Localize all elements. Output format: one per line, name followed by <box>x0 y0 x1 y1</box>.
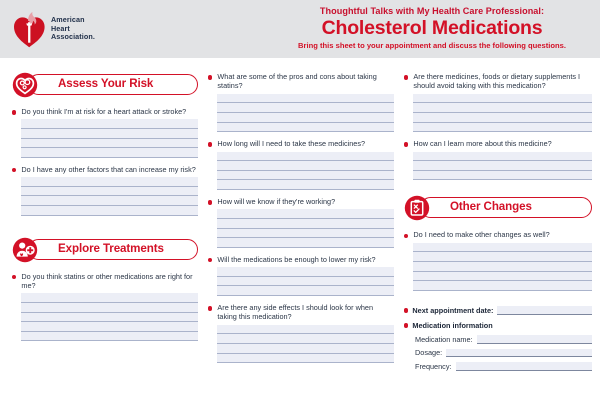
bullet-icon <box>12 168 16 172</box>
page-title: Cholesterol Medications <box>272 17 592 40</box>
answer-lines[interactable] <box>217 325 394 363</box>
answer-line[interactable] <box>217 209 394 219</box>
question-row: How long will I need to take these medic… <box>208 139 394 148</box>
answer-line[interactable] <box>21 177 198 187</box>
medication-name-field[interactable]: Medication name: <box>415 335 592 344</box>
answer-line[interactable] <box>21 332 198 342</box>
section-header-assess-risk: Assess Your Risk <box>12 72 198 98</box>
answer-line[interactable] <box>21 206 198 216</box>
answer-line[interactable] <box>413 281 592 291</box>
bullet-icon <box>404 234 408 238</box>
bullet-icon <box>208 306 212 310</box>
bullet-icon <box>12 275 16 279</box>
bullet-icon <box>208 142 212 146</box>
answer-lines[interactable] <box>217 152 394 190</box>
medication-name-input[interactable] <box>477 335 592 344</box>
answer-line[interactable] <box>21 196 198 206</box>
answer-line[interactable] <box>217 354 394 364</box>
question-text: Are there any side effects I should look… <box>217 303 394 322</box>
answer-line[interactable] <box>413 152 592 162</box>
person-medical-cross-icon <box>12 237 38 263</box>
answer-line[interactable] <box>413 272 592 282</box>
frequency-input[interactable] <box>456 362 592 371</box>
answer-lines[interactable] <box>413 243 592 291</box>
question-block: Will the medications be enough to lower … <box>208 255 394 296</box>
question-row: Do you think statins or other medication… <box>12 272 198 291</box>
question-text: How can I learn more about this medicine… <box>413 139 592 148</box>
bullet-icon <box>404 308 408 312</box>
question-block: Do you think statins or other medication… <box>12 272 198 342</box>
question-text: Do I need to make other changes as well? <box>413 230 592 239</box>
section-header-other-changes: Other Changes <box>404 195 592 221</box>
bullet-icon <box>208 200 212 204</box>
answer-lines[interactable] <box>217 267 394 296</box>
answer-line[interactable] <box>217 152 394 162</box>
section-label-explore-treatments: Explore Treatments <box>58 242 164 255</box>
answer-line[interactable] <box>413 103 592 113</box>
answer-line[interactable] <box>413 171 592 181</box>
question-row: Are there any side effects I should look… <box>208 303 394 322</box>
dosage-field[interactable]: Dosage: <box>415 348 592 357</box>
answer-line[interactable] <box>21 293 198 303</box>
question-text: Do you think statins or other medication… <box>21 272 198 291</box>
answer-line[interactable] <box>217 219 394 229</box>
answer-line[interactable] <box>217 286 394 296</box>
answer-lines[interactable] <box>413 94 592 132</box>
medication-information-label: Medication information <box>412 321 492 330</box>
question-text: What are some of the pros and cons about… <box>217 72 394 91</box>
question-block: What are some of the pros and cons about… <box>208 72 394 132</box>
question-row: How will we know if they're working? <box>208 197 394 206</box>
question-text: How will we know if they're working? <box>217 197 394 206</box>
question-row: Do I have any other factors that can inc… <box>12 165 198 174</box>
answer-line[interactable] <box>21 129 198 139</box>
question-block: How will we know if they're working? <box>208 197 394 248</box>
next-appointment-input[interactable] <box>497 306 592 315</box>
answer-line[interactable] <box>413 113 592 123</box>
question-block: Do I need to make other changes as well? <box>404 230 592 290</box>
section-header-explore-treatments: Explore Treatments <box>12 237 198 263</box>
section-label-other-changes: Other Changes <box>450 200 532 213</box>
question-row: Are there medicines, foods or dietary su… <box>404 72 592 91</box>
answer-line[interactable] <box>21 322 198 332</box>
answer-line[interactable] <box>217 344 394 354</box>
clipboard-checklist-icon <box>404 195 430 221</box>
answer-line[interactable] <box>217 161 394 171</box>
next-appointment-label: Next appointment date: <box>412 306 493 315</box>
answer-line[interactable] <box>217 325 394 335</box>
dosage-input[interactable] <box>446 349 592 358</box>
answer-line[interactable] <box>217 113 394 123</box>
answer-line[interactable] <box>21 119 198 129</box>
answer-line[interactable] <box>217 103 394 113</box>
answer-lines[interactable] <box>217 94 394 132</box>
column-right: Are there medicines, foods or dietary su… <box>404 72 592 375</box>
question-block: Are there any side effects I should look… <box>208 303 394 363</box>
bullet-icon <box>404 323 408 327</box>
next-appointment-field[interactable]: Next appointment date: <box>404 306 592 315</box>
answer-line[interactable] <box>217 180 394 190</box>
spacer <box>404 298 592 306</box>
worksheet-page: American Heart Association. Thoughtful T… <box>0 0 600 400</box>
answer-line[interactable] <box>217 123 394 133</box>
answer-lines[interactable] <box>217 209 394 247</box>
question-block: How can I learn more about this medicine… <box>404 139 592 180</box>
header-titles: Thoughtful Talks with My Health Care Pro… <box>272 6 592 51</box>
answer-lines[interactable] <box>21 119 198 157</box>
answer-lines[interactable] <box>21 177 198 215</box>
answer-line[interactable] <box>413 123 592 133</box>
question-block: Do I have any other factors that can inc… <box>12 165 198 216</box>
medication-name-label: Medication name: <box>415 335 473 344</box>
frequency-label: Frequency: <box>415 362 452 371</box>
question-row: How can I learn more about this medicine… <box>404 139 592 148</box>
heart-gears-icon <box>12 72 38 98</box>
bullet-icon <box>208 258 212 262</box>
answer-line[interactable] <box>21 139 198 149</box>
answer-line[interactable] <box>217 267 394 277</box>
bullet-icon <box>404 75 408 79</box>
answer-lines[interactable] <box>21 293 198 341</box>
answer-line[interactable] <box>21 303 198 313</box>
answer-line[interactable] <box>217 238 394 248</box>
spacer <box>12 223 198 237</box>
answer-line[interactable] <box>217 277 394 287</box>
answer-line[interactable] <box>21 313 198 323</box>
dosage-label: Dosage: <box>415 348 442 357</box>
question-text: Are there medicines, foods or dietary su… <box>413 72 592 91</box>
answer-line[interactable] <box>217 171 394 181</box>
section-label-assess-risk: Assess Your Risk <box>58 77 153 90</box>
answer-line[interactable] <box>217 229 394 239</box>
question-text: Do you think I'm at risk for a heart att… <box>21 107 198 116</box>
spacer <box>404 187 592 195</box>
answer-line[interactable] <box>217 94 394 104</box>
bullet-icon <box>208 75 212 79</box>
bullet-icon <box>404 142 408 146</box>
column-left: Assess Your Risk Do you think I'm at ris… <box>12 72 198 348</box>
answer-line[interactable] <box>21 148 198 158</box>
question-row: Do I need to make other changes as well? <box>404 230 592 239</box>
aha-logo: American Heart Association. <box>12 10 95 48</box>
question-text: Will the medications be enough to lower … <box>217 255 394 264</box>
question-row: Do you think I'm at risk for a heart att… <box>12 107 198 116</box>
heart-torch-icon <box>12 10 46 48</box>
header-eyebrow: Thoughtful Talks with My Health Care Pro… <box>272 6 592 17</box>
medication-information-heading: Medication information <box>404 321 592 330</box>
frequency-field[interactable]: Frequency: <box>415 362 592 371</box>
answer-line[interactable] <box>413 161 592 171</box>
header-subtitle: Bring this sheet to your appointment and… <box>272 41 592 51</box>
answer-line[interactable] <box>413 252 592 262</box>
question-block: How long will I need to take these medic… <box>208 139 394 190</box>
org-line-3: Association. <box>51 33 95 41</box>
answer-line[interactable] <box>413 94 592 104</box>
answer-line[interactable] <box>21 187 198 197</box>
bullet-icon <box>12 110 16 114</box>
question-row: What are some of the pros and cons about… <box>208 72 394 91</box>
question-row: Will the medications be enough to lower … <box>208 255 394 264</box>
aha-logo-text: American Heart Association. <box>51 16 95 41</box>
question-block: Do you think I'm at risk for a heart att… <box>12 107 198 158</box>
answer-lines[interactable] <box>413 152 592 181</box>
column-middle: What are some of the pros and cons about… <box>208 72 394 370</box>
answer-line[interactable] <box>413 262 592 272</box>
answer-line[interactable] <box>413 243 592 253</box>
question-block: Are there medicines, foods or dietary su… <box>404 72 592 132</box>
question-text: Do I have any other factors that can inc… <box>21 165 198 174</box>
answer-line[interactable] <box>217 334 394 344</box>
question-text: How long will I need to take these medic… <box>217 139 394 148</box>
